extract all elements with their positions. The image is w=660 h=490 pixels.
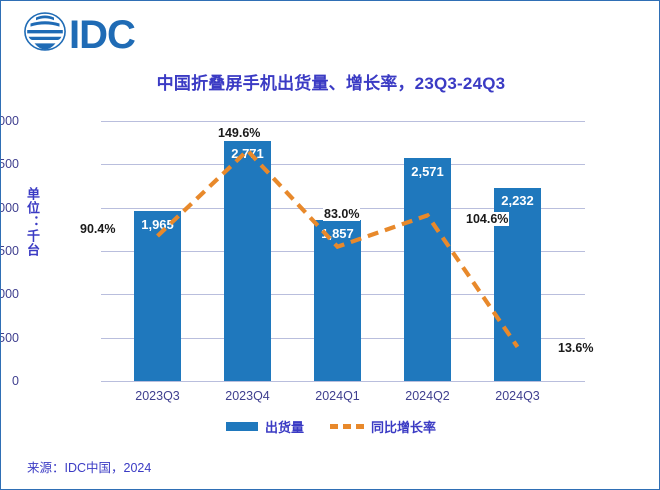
x-tick-2023Q4: 2023Q4 — [225, 389, 269, 403]
legend-item-growth-rate[interactable]: 同比增长率 — [330, 417, 436, 436]
bar-value-2024Q2: 2,571 — [411, 164, 444, 179]
y-tick-2500: 2,500 — [0, 157, 19, 171]
legend-bar-swatch-icon — [226, 422, 258, 431]
x-tick-2023Q3: 2023Q3 — [135, 389, 179, 403]
y-axis-title: 单位：千台 — [22, 187, 42, 257]
gridline — [101, 121, 585, 122]
bar-2023Q4[interactable] — [224, 141, 271, 381]
source-note: 来源：IDC中国，2024 — [27, 457, 151, 476]
legend-label-growth-rate: 同比增长率 — [371, 417, 436, 436]
idc-wordmark: IDC — [69, 13, 135, 55]
y-tick-1000: 1,000 — [0, 287, 19, 301]
bar-2023Q3[interactable] — [134, 211, 181, 381]
plot-area: 3,000 2,500 2,000 1,500 1,000 500 0 170%… — [101, 121, 585, 381]
x-tick-2024Q3: 2024Q3 — [495, 389, 539, 403]
page-title: 中国折叠屏手机出货量、增长率，23Q3-24Q3 — [1, 69, 660, 94]
idc-logo-svg: IDC — [23, 11, 153, 55]
pct-label-2023Q4: 149.6% — [217, 126, 261, 140]
y-tick-0: 0 — [0, 374, 19, 388]
bar-value-2024Q1: 1,857 — [321, 226, 354, 241]
bar-2024Q2[interactable] — [404, 158, 451, 381]
bar-value-2023Q3: 1,965 — [141, 217, 174, 232]
y-tick-3000: 3,000 — [0, 114, 19, 128]
y-tick-1500: 1,500 — [0, 244, 19, 258]
legend-label-shipments: 出货量 — [265, 417, 304, 436]
pct-label-2023Q3: 90.4% — [79, 222, 116, 236]
x-tick-2024Q2: 2024Q2 — [405, 389, 449, 403]
pct-label-2024Q2: 104.6% — [465, 212, 509, 226]
pct-label-2024Q1: 83.0% — [323, 207, 360, 221]
legend-dashed-line-icon — [330, 424, 364, 429]
y-tick-2000: 2,000 — [0, 201, 19, 215]
globe-icon — [25, 13, 65, 50]
gridline — [101, 164, 585, 165]
bar-value-2024Q3: 2,232 — [501, 193, 534, 208]
chart-page: IDC 中国折叠屏手机出货量、增长率，23Q3-24Q3 单位：千台 3,000… — [0, 0, 660, 490]
bar-value-2023Q4: 2,771 — [231, 146, 264, 161]
bar-2024Q1[interactable] — [314, 220, 361, 381]
chart-legend: 出货量 同比增长率 — [1, 417, 660, 436]
x-tick-2024Q1: 2024Q1 — [315, 389, 359, 403]
idc-logo: IDC — [23, 11, 153, 55]
legend-item-shipments[interactable]: 出货量 — [226, 417, 304, 436]
axis-baseline — [101, 381, 585, 382]
y-tick-500: 500 — [0, 331, 19, 345]
pct-label-2024Q3: 13.6% — [557, 341, 594, 355]
